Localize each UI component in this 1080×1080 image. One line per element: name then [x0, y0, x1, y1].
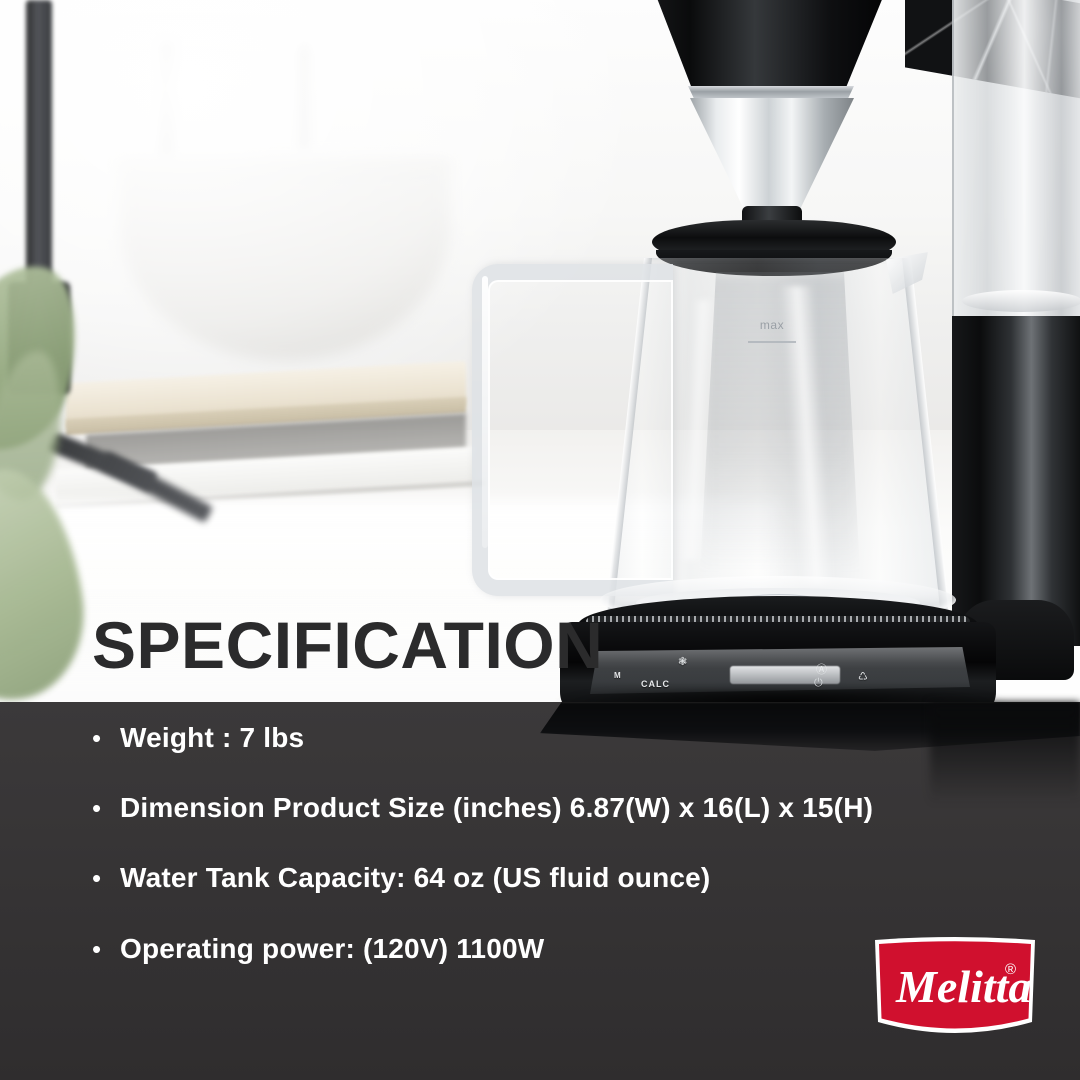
list-item: • Dimension Product Size (inches) 6.87(W… [92, 792, 1052, 824]
registered-mark-icon: ® [1005, 961, 1016, 978]
carafe-handle-highlight [482, 276, 488, 548]
list-item: • Weight : 7 lbs [92, 722, 1052, 754]
spec-weight: Weight : 7 lbs [120, 722, 304, 754]
control-calc-label: CALC [641, 679, 670, 689]
bullet-icon: • [92, 865, 120, 891]
page-title: SPECIFICATION [92, 612, 603, 678]
control-mode-label: M [614, 671, 622, 680]
carafe-handle [472, 264, 673, 596]
water-tank-glass [952, 0, 1080, 320]
melitta-logo: Melitta ® [872, 934, 1038, 1036]
spec-water-tank: Water Tank Capacity: 64 oz (US fluid oun… [120, 862, 710, 894]
product-spec-graphic: max CALC M ❃ Ⓐ ⏻ ♺ SPECIFICATION • Weigh… [0, 0, 1080, 1080]
bullet-icon: • [92, 936, 120, 962]
carafe-max-label: max [742, 318, 802, 332]
filter-cone-band [688, 86, 854, 100]
control-display-window [730, 666, 840, 684]
bullet-icon: • [92, 725, 120, 751]
bean-icon: ❃ [678, 655, 687, 668]
bullet-icon: • [92, 795, 120, 821]
cup-icon: ♺ [858, 670, 868, 683]
spec-operating-power: Operating power: (120V) 1100W [120, 933, 544, 965]
water-tank-body [952, 316, 1080, 646]
spec-dimension: Dimension Product Size (inches) 6.87(W) … [120, 792, 873, 824]
faucet-neck [26, 0, 52, 300]
carafe-max-line [748, 341, 796, 343]
list-item: • Water Tank Capacity: 64 oz (US fluid o… [92, 862, 1052, 894]
